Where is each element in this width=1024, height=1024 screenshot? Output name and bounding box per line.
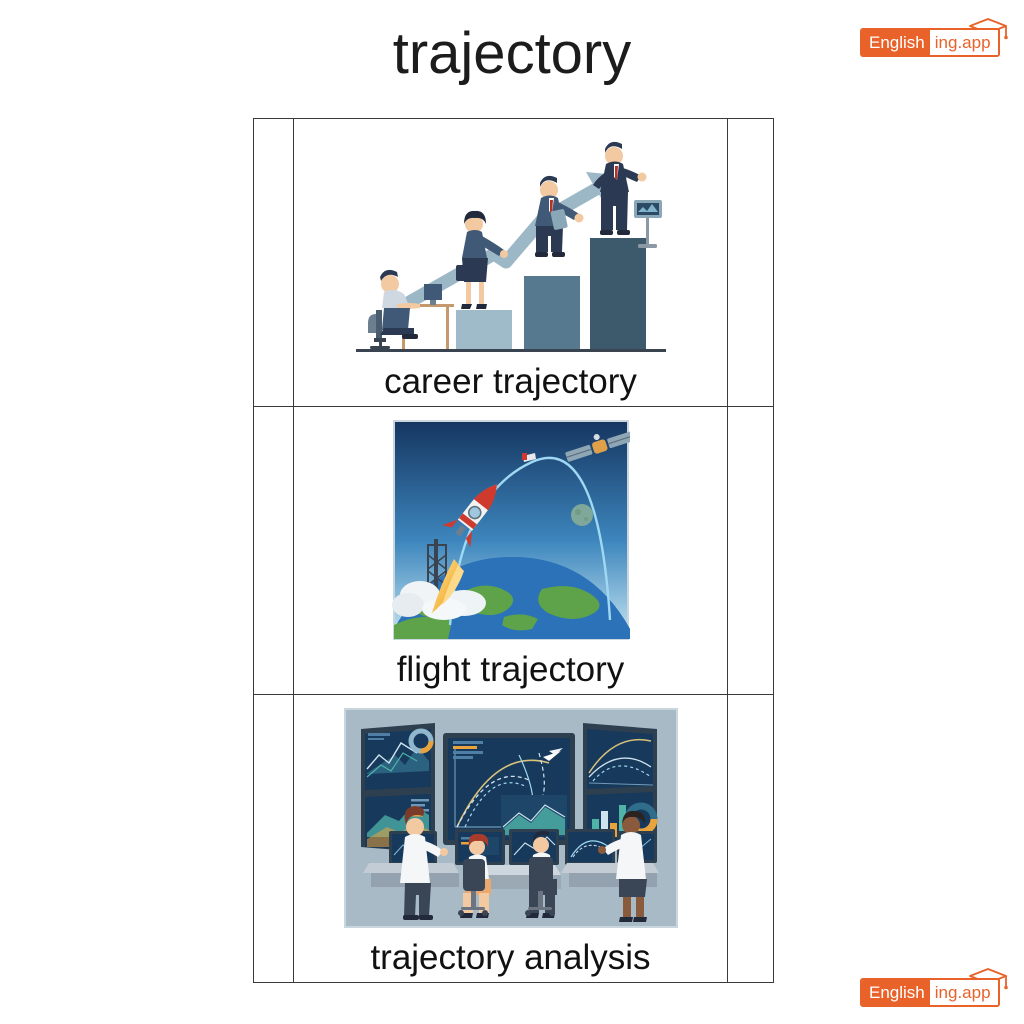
examples-table: career trajectory <box>253 118 774 983</box>
control-room-illustration <box>298 699 723 938</box>
example-cell-career[interactable]: career trajectory <box>293 119 727 407</box>
caption-text: flight trajectory <box>397 650 625 692</box>
caption-text: career trajectory <box>384 362 637 404</box>
table-row: flight trajectory <box>254 407 774 695</box>
brand-text-english: English <box>862 30 930 55</box>
right-spacer-cell <box>728 407 774 695</box>
right-spacer-cell <box>728 119 774 407</box>
example-cell-analysis[interactable]: trajectory analysis <box>293 695 727 983</box>
table-row: trajectory analysis <box>254 695 774 983</box>
right-spacer-cell <box>728 695 774 983</box>
brand-logo-top[interactable]: English ing.app <box>860 18 1012 58</box>
left-spacer-cell <box>254 407 294 695</box>
rocket-launch-illustration <box>298 411 723 650</box>
caption-text: trajectory analysis <box>370 938 650 980</box>
left-spacer-cell <box>254 695 294 983</box>
brand-logo-bottom[interactable]: English ing.app <box>860 968 1012 1008</box>
brand-text-ing-app: ing.app <box>930 980 998 1005</box>
brand-text-english: English <box>862 980 930 1005</box>
career-ladder-illustration <box>298 123 723 362</box>
flashcard-page: trajectory English ing.app English ing.a… <box>0 0 1024 1024</box>
left-spacer-cell <box>254 119 294 407</box>
example-cell-flight[interactable]: flight trajectory <box>293 407 727 695</box>
brand-text-ing-app: ing.app <box>930 30 998 55</box>
table-row: career trajectory <box>254 119 774 407</box>
